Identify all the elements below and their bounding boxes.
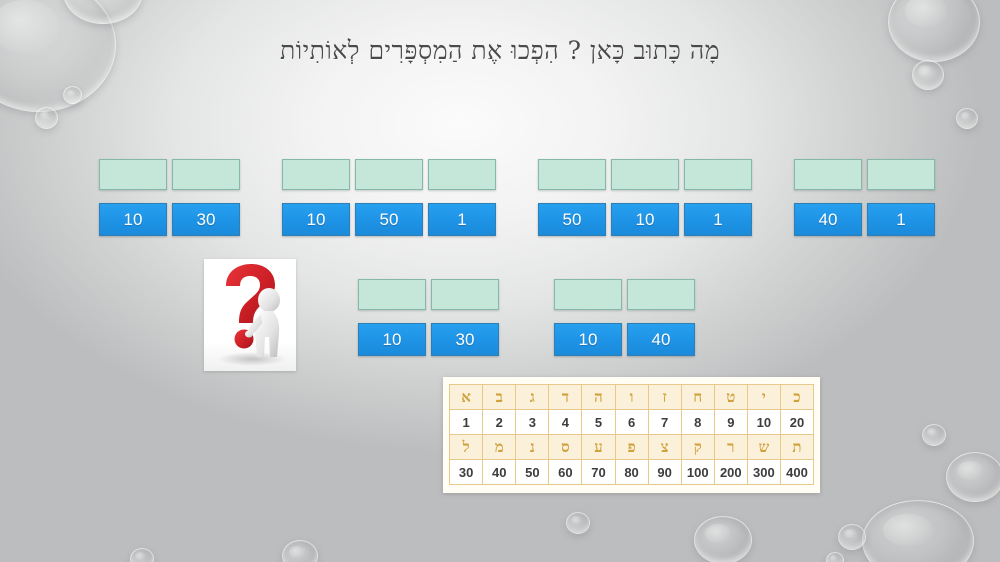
value-cell: 60 [549, 460, 582, 485]
value-cell: 2 [483, 410, 516, 435]
answer-cell[interactable] [867, 159, 935, 190]
letter-cell: נ [516, 435, 549, 460]
table-row-letters: כ י ט ח ז ו ה ד ג ב א [450, 385, 814, 410]
bubble-decoration [130, 548, 154, 562]
letter-cell: ד [549, 385, 582, 410]
answer-cell[interactable] [684, 159, 752, 190]
value-cell: 40 [483, 460, 516, 485]
answer-cell[interactable] [611, 159, 679, 190]
number-cell: 40 [627, 323, 695, 356]
word-group: 50 10 1 [538, 159, 752, 236]
answer-cell[interactable] [554, 279, 622, 310]
title-container: מָה כָּתוּב כָּאן ? הִפְכוּ אֶת הַמִסְפָ… [0, 36, 1000, 66]
letter-cell: א [450, 385, 483, 410]
page-title: מָה כָּתוּב כָּאן ? הִפְכוּ אֶת הַמִסְפָ… [280, 36, 720, 66]
number-cell: 1 [684, 203, 752, 236]
table-row-values: 400 300 200 100 90 80 70 60 50 40 30 [450, 460, 814, 485]
number-cell: 10 [358, 323, 426, 356]
letter-cell: פ [615, 435, 648, 460]
answer-cells [282, 159, 496, 190]
letter-cell: ש [747, 435, 780, 460]
answer-cells [99, 159, 240, 190]
value-cell: 200 [714, 460, 747, 485]
letter-cell: ו [615, 385, 648, 410]
value-cell: 3 [516, 410, 549, 435]
answer-cell[interactable] [431, 279, 499, 310]
puzzle-row-1: 10 30 10 50 1 50 [99, 159, 935, 236]
bubble-decoration [63, 86, 82, 104]
value-cell: 9 [714, 410, 747, 435]
number-cell: 30 [172, 203, 240, 236]
bubble-decoration [946, 452, 1000, 502]
letter-cell: ה [582, 385, 615, 410]
value-cell: 8 [681, 410, 714, 435]
bubble-decoration [862, 500, 974, 562]
value-cell: 80 [615, 460, 648, 485]
word-group: 10 50 1 [282, 159, 496, 236]
letter-cell: מ [483, 435, 516, 460]
number-cells: 10 30 [358, 323, 499, 356]
value-cell: 7 [648, 410, 681, 435]
number-cell: 50 [538, 203, 606, 236]
value-cell: 10 [747, 410, 780, 435]
bubble-decoration [63, 0, 143, 24]
answer-cells [358, 279, 499, 310]
bubble-decoration [956, 108, 978, 129]
number-cell: 30 [431, 323, 499, 356]
word-group: 10 40 [554, 279, 695, 356]
letter-cell: ע [582, 435, 615, 460]
number-cell: 1 [428, 203, 496, 236]
letter-cell: ט [714, 385, 747, 410]
letter-cell: ח [681, 385, 714, 410]
table-row-letters: ת ש ר ק צ פ ע ס נ מ ל [450, 435, 814, 460]
value-cell: 5 [582, 410, 615, 435]
letter-cell: ר [714, 435, 747, 460]
value-cell: 300 [747, 460, 780, 485]
number-cells: 10 30 [99, 203, 240, 236]
number-cells: 10 50 1 [282, 203, 496, 236]
number-cell: 50 [355, 203, 423, 236]
answer-cell[interactable] [538, 159, 606, 190]
value-cell: 400 [780, 460, 813, 485]
answer-cells [538, 159, 752, 190]
value-cell: 4 [549, 410, 582, 435]
number-cell: 40 [794, 203, 862, 236]
answer-cell[interactable] [627, 279, 695, 310]
answer-cell[interactable] [358, 279, 426, 310]
answer-cell[interactable] [428, 159, 496, 190]
answer-cell[interactable] [355, 159, 423, 190]
letter-cell: ז [648, 385, 681, 410]
table-row-values: 20 10 9 8 7 6 5 4 3 2 1 [450, 410, 814, 435]
bubble-decoration [35, 107, 58, 129]
gematria-reference-panel: כ י ט ח ז ו ה ד ג ב א 20 10 9 8 [443, 377, 820, 493]
letter-cell: כ [780, 385, 813, 410]
letter-cell: ב [483, 385, 516, 410]
number-cells: 10 40 [554, 323, 695, 356]
value-cell: 90 [648, 460, 681, 485]
bubble-decoration [566, 512, 590, 534]
word-group: 10 30 [358, 279, 499, 356]
number-cells: 40 1 [794, 203, 935, 236]
word-group: 10 30 [99, 159, 240, 236]
letter-cell: צ [648, 435, 681, 460]
question-mark-image [204, 259, 296, 371]
question-mark-icon [204, 259, 296, 371]
number-cell: 10 [554, 323, 622, 356]
bubble-decoration [826, 552, 844, 562]
number-cell: 10 [611, 203, 679, 236]
puzzle-row-2: 10 30 10 40 [358, 279, 695, 356]
answer-cell[interactable] [282, 159, 350, 190]
letter-cell: ל [450, 435, 483, 460]
value-cell: 30 [450, 460, 483, 485]
answer-cells [794, 159, 935, 190]
value-cell: 6 [615, 410, 648, 435]
value-cell: 70 [582, 460, 615, 485]
answer-cells [554, 279, 695, 310]
gematria-table: כ י ט ח ז ו ה ד ג ב א 20 10 9 8 [449, 384, 814, 485]
letter-cell: ס [549, 435, 582, 460]
letter-cell: י [747, 385, 780, 410]
bubble-decoration [922, 424, 946, 446]
number-cells: 50 10 1 [538, 203, 752, 236]
value-cell: 50 [516, 460, 549, 485]
bubble-decoration [838, 524, 866, 550]
value-cell: 20 [780, 410, 813, 435]
bubble-decoration [694, 516, 752, 562]
number-cell: 1 [867, 203, 935, 236]
answer-cell[interactable] [172, 159, 240, 190]
answer-cell[interactable] [99, 159, 167, 190]
bubble-decoration [282, 540, 318, 562]
word-group: 40 1 [794, 159, 935, 236]
value-cell: 1 [450, 410, 483, 435]
answer-cell[interactable] [794, 159, 862, 190]
letter-cell: ת [780, 435, 813, 460]
number-cell: 10 [99, 203, 167, 236]
slide-canvas: מָה כָּתוּב כָּאן ? הִפְכוּ אֶת הַמִסְפָ… [0, 0, 1000, 562]
value-cell: 100 [681, 460, 714, 485]
letter-cell: ג [516, 385, 549, 410]
letter-cell: ק [681, 435, 714, 460]
number-cell: 10 [282, 203, 350, 236]
